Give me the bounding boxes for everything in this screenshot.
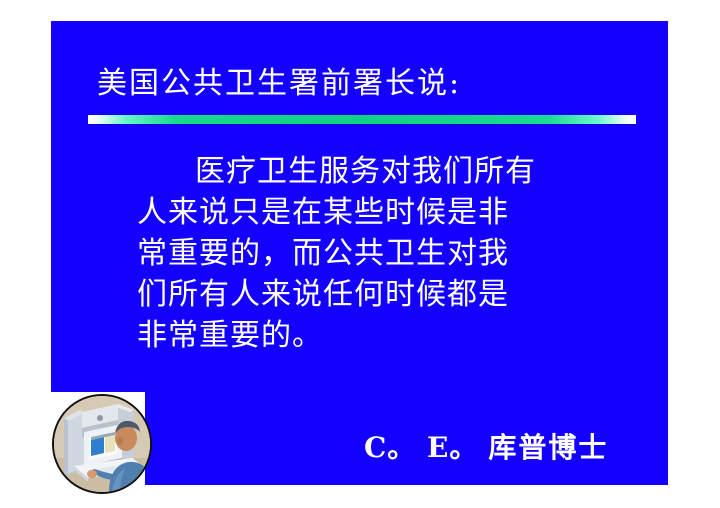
- attribution-initials: C。 E。: [364, 431, 478, 464]
- title-block: 美国公共卫生署前署长说:: [97, 65, 637, 103]
- attribution: C。 E。库普博士: [364, 426, 654, 466]
- title-underline-bar: [88, 115, 636, 124]
- attribution-name: 库普博士: [488, 431, 608, 464]
- person-at-computer-illustration: [54, 396, 150, 492]
- quote-line: 医疗卫生服务对我们所有: [137, 151, 607, 192]
- quote-line: 人来说只是在某些时候是非: [137, 192, 607, 233]
- quote-line: 非常重要的。: [137, 315, 607, 356]
- page-title: 美国公共卫生署前署长说:: [97, 65, 637, 103]
- slide-root: 美国公共卫生署前署长说: 医疗卫生服务对我们所有 人来说只是在某些时候是非 常重…: [0, 0, 720, 508]
- quote-line: 们所有人来说任何时候都是: [137, 274, 607, 315]
- person-at-computer-icon: [52, 394, 152, 494]
- quote-line: 常重要的，而公共卫生对我: [137, 233, 607, 274]
- quote-body: 医疗卫生服务对我们所有 人来说只是在某些时候是非 常重要的，而公共卫生对我 们所…: [137, 151, 607, 356]
- clipart-badge: [52, 394, 150, 492]
